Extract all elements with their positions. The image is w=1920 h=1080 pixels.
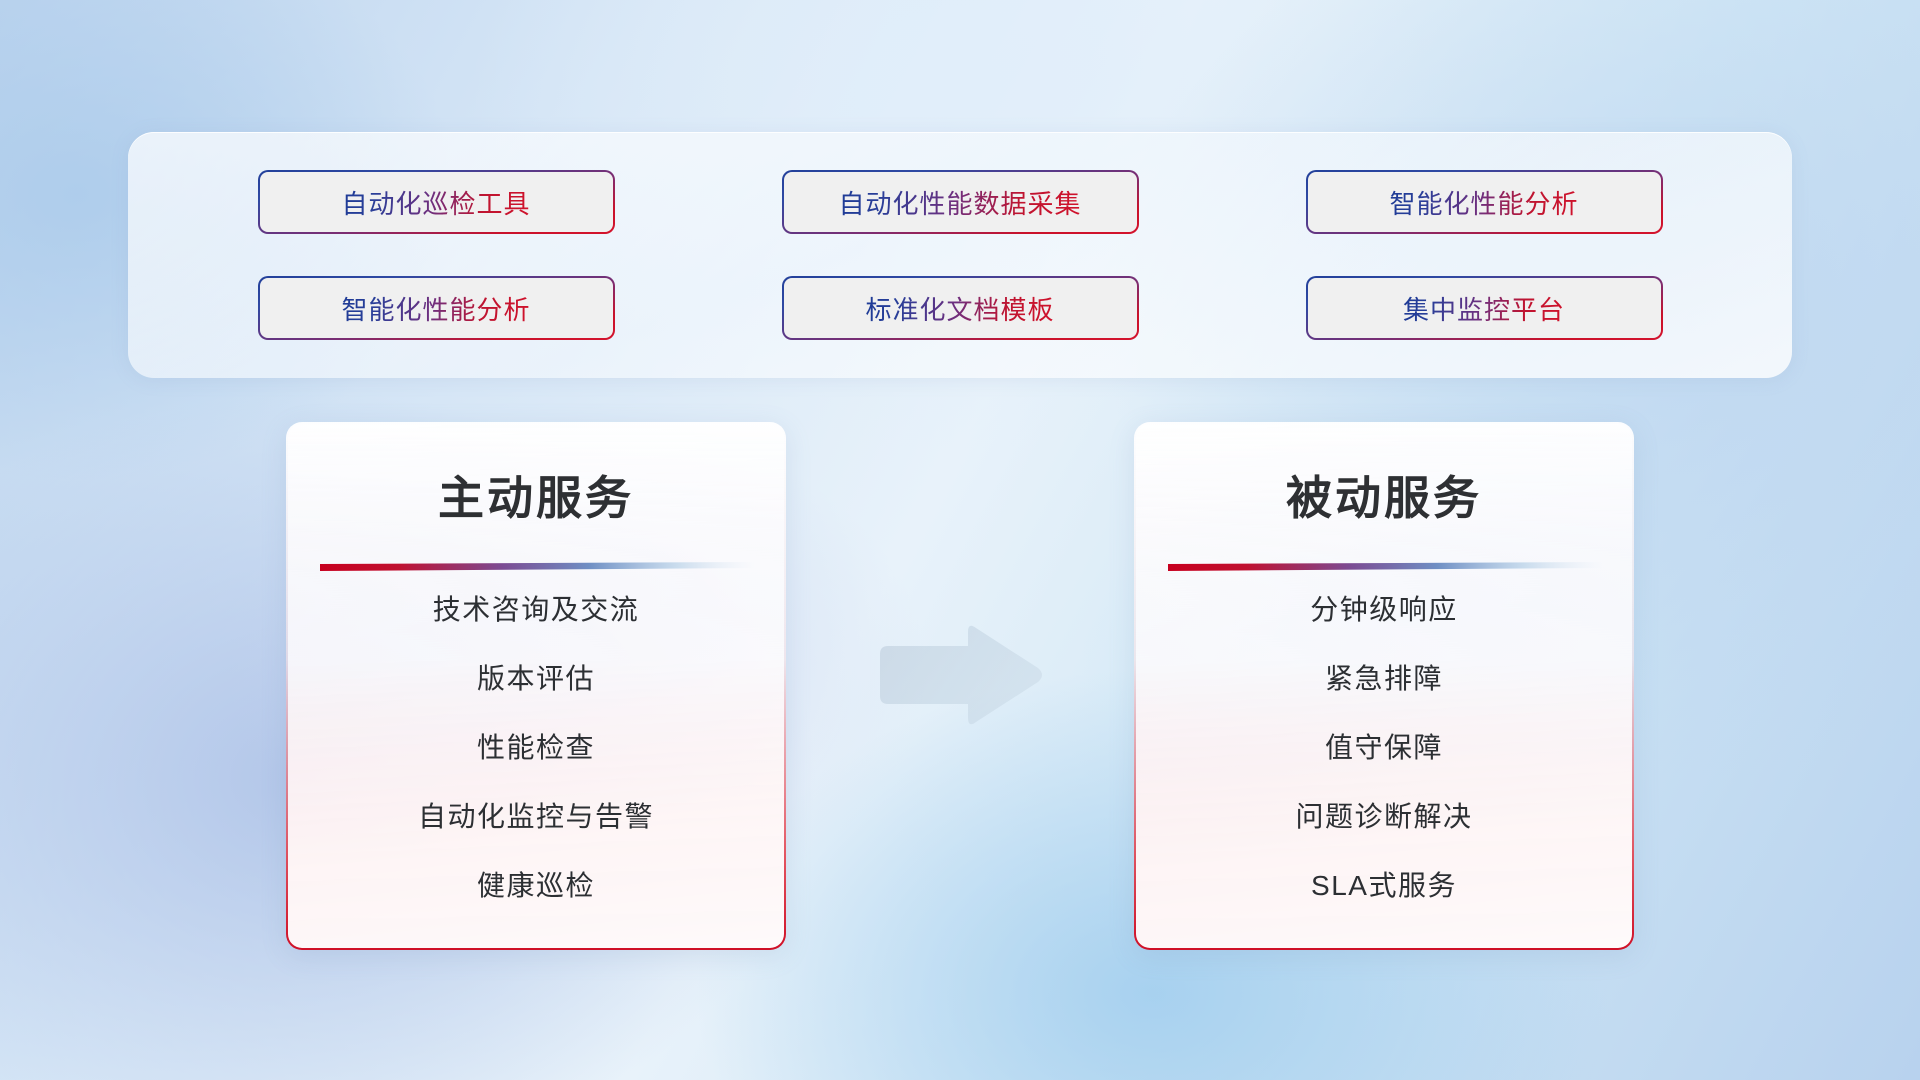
capability-pill-label: 集中监控平台 <box>1403 290 1565 327</box>
list-item[interactable]: 紧急排障 <box>1156 657 1612 697</box>
slide-canvas: 自动化巡检工具 自动化性能数据采集 智能化性能分析 智能化性能分析 标准化文档模… <box>0 0 1920 1080</box>
capability-pill-label: 自动化巡检工具 <box>341 184 530 221</box>
capability-pill[interactable]: 智能化性能分析 <box>258 276 615 340</box>
service-card-active[interactable]: 主动服务 技术咨询及交流 版本评估 性能检查 <box>286 422 786 950</box>
capability-pill[interactable]: 自动化性能数据采集 <box>782 170 1139 234</box>
card-list: 技术咨询及交流 版本评估 性能检查 自动化监控与告警 健康巡检 <box>288 572 784 948</box>
list-item[interactable]: 健康巡检 <box>308 864 764 904</box>
arrow-right-icon <box>872 620 1048 730</box>
card-divider <box>1168 562 1602 572</box>
capability-pill-label: 自动化性能数据采集 <box>838 184 1081 221</box>
list-item[interactable]: 版本评估 <box>308 657 764 697</box>
list-item[interactable]: 分钟级响应 <box>1156 588 1612 628</box>
capability-panel: 自动化巡检工具 自动化性能数据采集 智能化性能分析 智能化性能分析 标准化文档模… <box>128 132 1792 378</box>
card-title: 主动服务 <box>288 462 784 528</box>
list-item[interactable]: 值守保障 <box>1156 726 1612 766</box>
list-item[interactable]: SLA式服务 <box>1156 864 1612 904</box>
capability-pill[interactable]: 自动化巡检工具 <box>258 170 615 234</box>
capability-pill[interactable]: 集中监控平台 <box>1306 276 1663 340</box>
card-list: 分钟级响应 紧急排障 值守保障 问题诊断解决 SLA式服务 <box>1136 572 1632 948</box>
card-divider <box>320 562 754 572</box>
capability-pill[interactable]: 智能化性能分析 <box>1306 170 1663 234</box>
list-item[interactable]: 性能检查 <box>308 726 764 766</box>
capability-pill-label: 智能化性能分析 <box>1389 184 1578 221</box>
service-card-passive[interactable]: 被动服务 分钟级响应 紧急排障 值守保障 <box>1134 422 1634 950</box>
capability-pill-grid: 自动化巡检工具 自动化性能数据采集 智能化性能分析 智能化性能分析 标准化文档模… <box>128 132 1792 378</box>
list-item[interactable]: 问题诊断解决 <box>1156 795 1612 835</box>
card-title: 被动服务 <box>1136 462 1632 528</box>
capability-pill[interactable]: 标准化文档模板 <box>782 276 1139 340</box>
capability-pill-label: 标准化文档模板 <box>865 290 1054 327</box>
list-item[interactable]: 技术咨询及交流 <box>308 588 764 628</box>
list-item[interactable]: 自动化监控与告警 <box>308 795 764 835</box>
capability-pill-label: 智能化性能分析 <box>341 290 530 327</box>
